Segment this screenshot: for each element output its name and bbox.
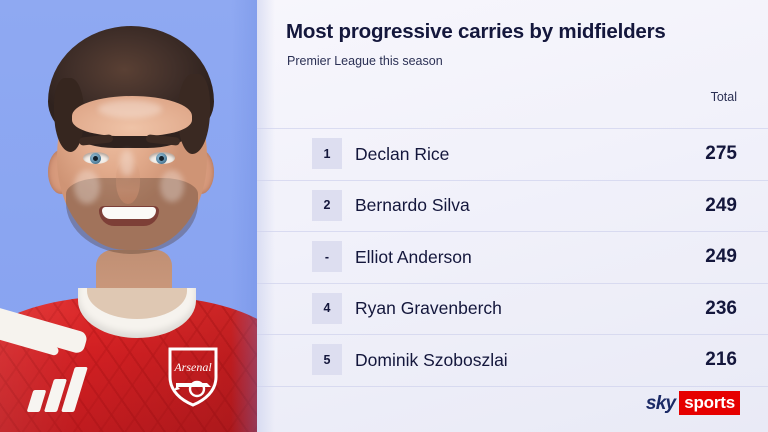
iris-left [90,153,101,164]
player-portrait: Arsenal [0,0,257,432]
nose-highlight [120,150,134,176]
table-row[interactable]: 5 Dominik Szoboszlai 216 [257,335,768,387]
stats-table: 1 Declan Rice 275 2 Bernardo Silva 249 -… [257,128,768,387]
rank-badge: 4 [312,293,342,324]
rank-badge: 1 [312,138,342,169]
total-value: 216 [705,335,737,386]
eye-right [149,152,175,164]
page-subtitle: Premier League this season [287,54,443,68]
sports-wordmark: sports [679,391,740,415]
table-row[interactable]: 4 Ryan Gravenberch 236 [257,284,768,336]
rank-badge: 2 [312,190,342,221]
rank-badge: 5 [312,344,342,375]
forehead-highlight [98,100,162,118]
sky-sports-stat-graphic: Arsenal Most progressive carries by midf… [0,0,768,432]
total-value: 249 [705,181,737,232]
rank-badge: - [312,241,342,272]
player-name: Bernardo Silva [355,181,470,232]
teeth [102,207,156,219]
svg-text:Arsenal: Arsenal [173,360,212,374]
cheek-highlight-left [74,170,100,204]
iris-right [156,153,167,164]
eye-left [83,152,109,164]
player-name: Dominik Szoboszlai [355,335,508,386]
total-value: 275 [705,129,737,180]
table-row[interactable]: - Elliot Anderson 249 [257,232,768,284]
total-value: 249 [705,232,737,283]
mouth [99,206,159,226]
player-name: Declan Rice [355,129,449,180]
table-row[interactable]: 1 Declan Rice 275 [257,128,768,181]
sky-wordmark: sky [646,394,679,413]
stats-panel: Most progressive carries by midfielders … [257,0,768,432]
page-title: Most progressive carries by midfielders [286,20,666,44]
player-name: Elliot Anderson [355,232,472,283]
total-value: 236 [705,284,737,335]
adidas-stripes-icon [28,366,102,412]
arsenal-crest-icon: Arsenal [167,345,219,407]
cheek-highlight-right [160,170,184,202]
player-photo-panel: Arsenal [0,0,257,432]
player-name: Ryan Gravenberch [355,284,502,335]
sky-sports-logo: sky sports [646,392,740,414]
column-header-total: Total [711,90,737,104]
table-row[interactable]: 2 Bernardo Silva 249 [257,181,768,233]
